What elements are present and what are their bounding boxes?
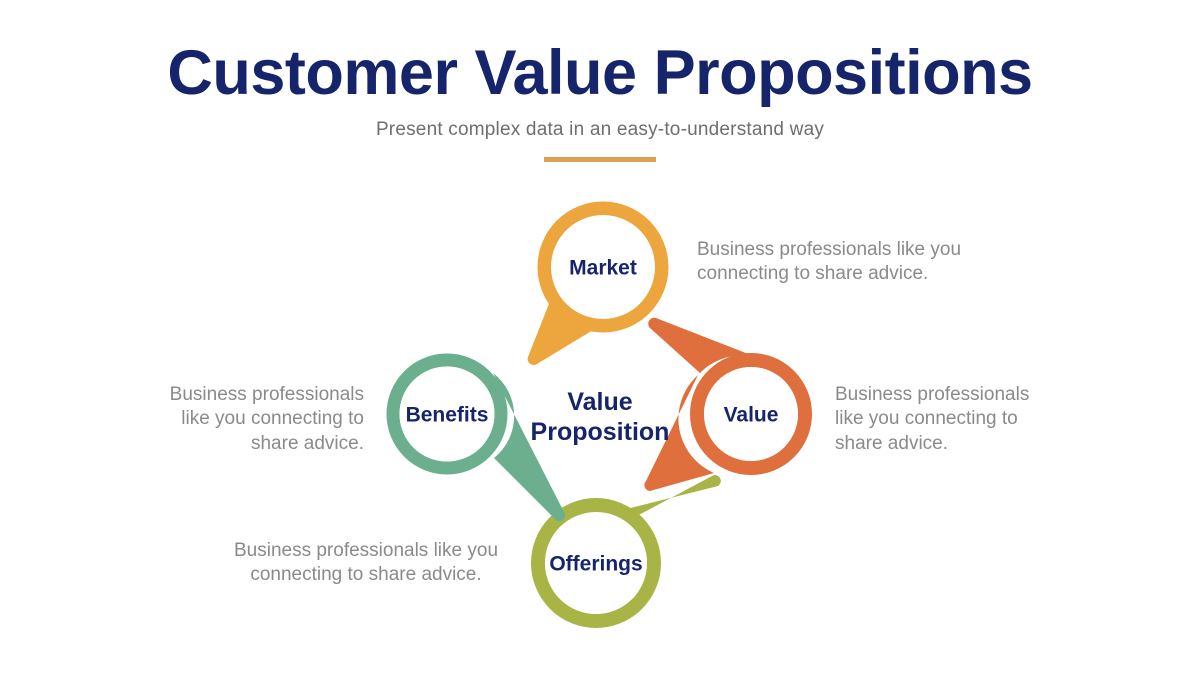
offerings-label: Offerings: [549, 553, 642, 576]
slide: Customer Value Propositions Present comp…: [0, 0, 1200, 675]
description-benefits: Business professionals like you connecti…: [152, 383, 364, 456]
center-label-line-1: Value: [567, 388, 632, 416]
page-title: Customer Value Propositions: [0, 42, 1200, 105]
diagram-center-label: Value Proposition: [531, 388, 670, 446]
market-label: Market: [569, 257, 637, 280]
center-label-line-2: Proposition: [531, 418, 670, 446]
value-label: Value: [724, 404, 779, 427]
header: Customer Value Propositions Present comp…: [0, 42, 1200, 162]
benefits-label: Benefits: [406, 404, 489, 427]
title-divider: [544, 157, 656, 162]
page-subtitle: Present complex data in an easy-to-under…: [0, 119, 1200, 141]
description-offerings: Business professionals like you connecti…: [232, 539, 500, 588]
diagram-node-market[interactable]: Market: [528, 208, 662, 365]
diagram-node-offerings[interactable]: Offerings: [538, 475, 721, 621]
description-market: Business professionals like you connecti…: [697, 238, 967, 287]
diagram-node-value[interactable]: Value: [644, 318, 805, 491]
description-value: Business professionals like you connecti…: [835, 383, 1045, 456]
